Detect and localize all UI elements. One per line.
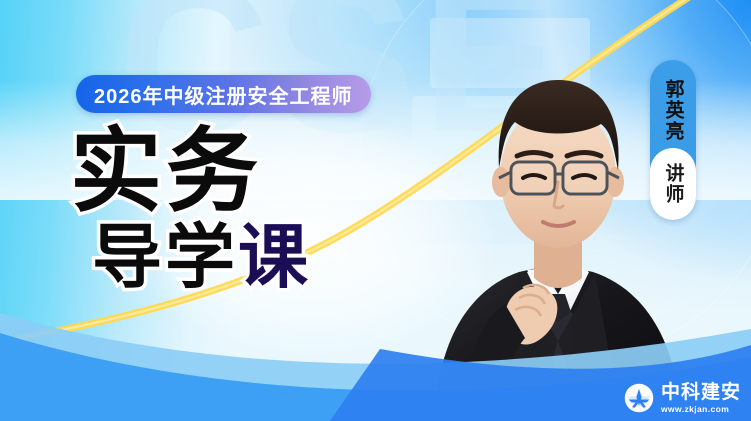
zkjan-star-logo-icon bbox=[624, 383, 654, 413]
instructor-name: 郭英亮 bbox=[650, 60, 696, 160]
brand-logo: 中科建安 www.zkjan.com bbox=[624, 383, 741, 414]
course-badge: 2026年中级注册安全工程师 bbox=[76, 75, 371, 113]
title-line-2-dark: 导学 bbox=[92, 218, 238, 296]
instructor-role: 讲师 bbox=[650, 148, 696, 220]
course-banner: CSE bbox=[0, 0, 751, 421]
title-line-2-navy: 课 bbox=[238, 218, 311, 296]
headline-block: 实务 导学课 bbox=[70, 128, 311, 292]
instructor-name-pill: 郭英亮 讲师 bbox=[650, 60, 696, 220]
brand-url: www.zkjan.com bbox=[661, 405, 741, 414]
title-line-2: 导学课 bbox=[92, 222, 311, 292]
brand-name: 中科建安 bbox=[661, 383, 741, 402]
brand-logo-text: 中科建安 www.zkjan.com bbox=[661, 383, 741, 414]
title-line-1: 实务 bbox=[70, 128, 311, 216]
